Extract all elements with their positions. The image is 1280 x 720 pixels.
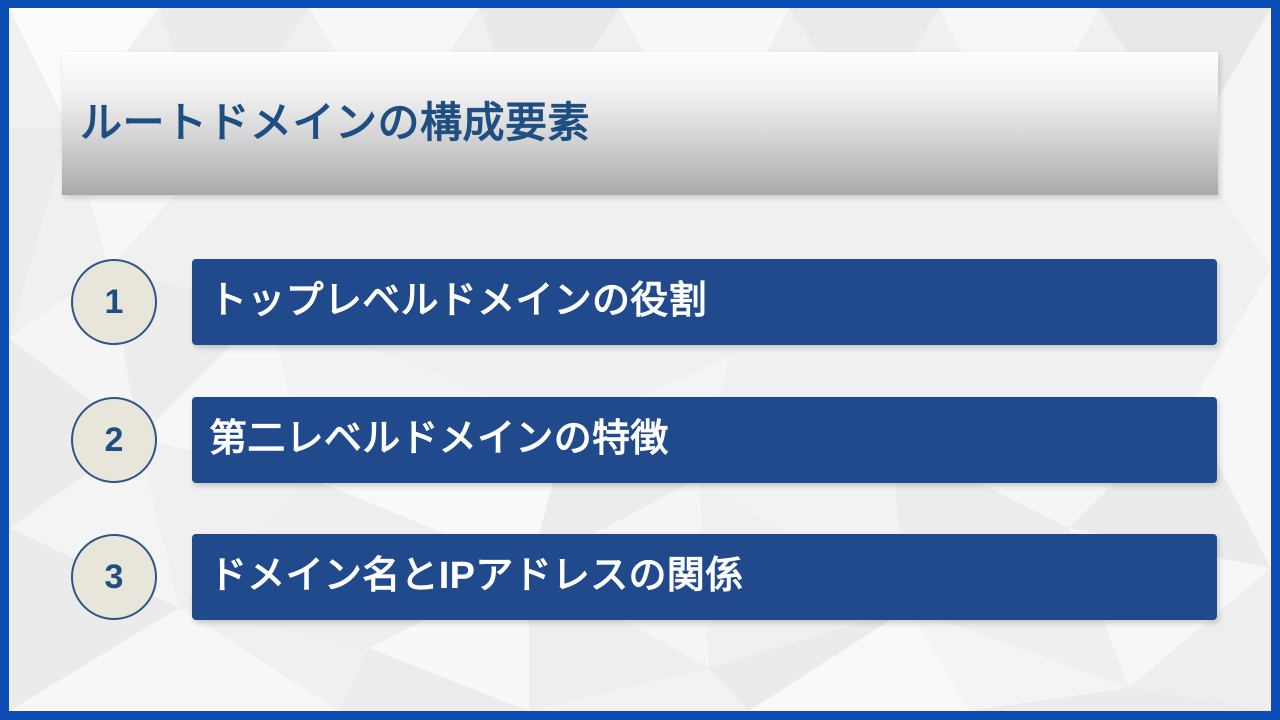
item-bar[interactable]: トップレベルドメインの役割	[192, 259, 1217, 345]
page-title: ルートドメインの構成要素	[80, 100, 590, 146]
item-label: ドメイン名とIPアドレスの関係	[209, 556, 743, 598]
item-label: トップレベルドメインの役割	[209, 281, 707, 323]
item-bar[interactable]: ドメイン名とIPアドレスの関係	[192, 534, 1217, 620]
item-number-badge: 3	[71, 534, 157, 620]
item-label: 第二レベルドメインの特徴	[209, 419, 669, 461]
item-number-badge: 2	[71, 397, 157, 483]
slide-canvas: ルートドメインの構成要素 1 トップレベルドメインの役割 2 第二レベルドメイン…	[0, 0, 1280, 720]
slide-title-plaque: ルートドメインの構成要素	[62, 52, 1218, 195]
item-number-badge: 1	[71, 259, 157, 345]
item-bar[interactable]: 第二レベルドメインの特徴	[192, 397, 1217, 483]
